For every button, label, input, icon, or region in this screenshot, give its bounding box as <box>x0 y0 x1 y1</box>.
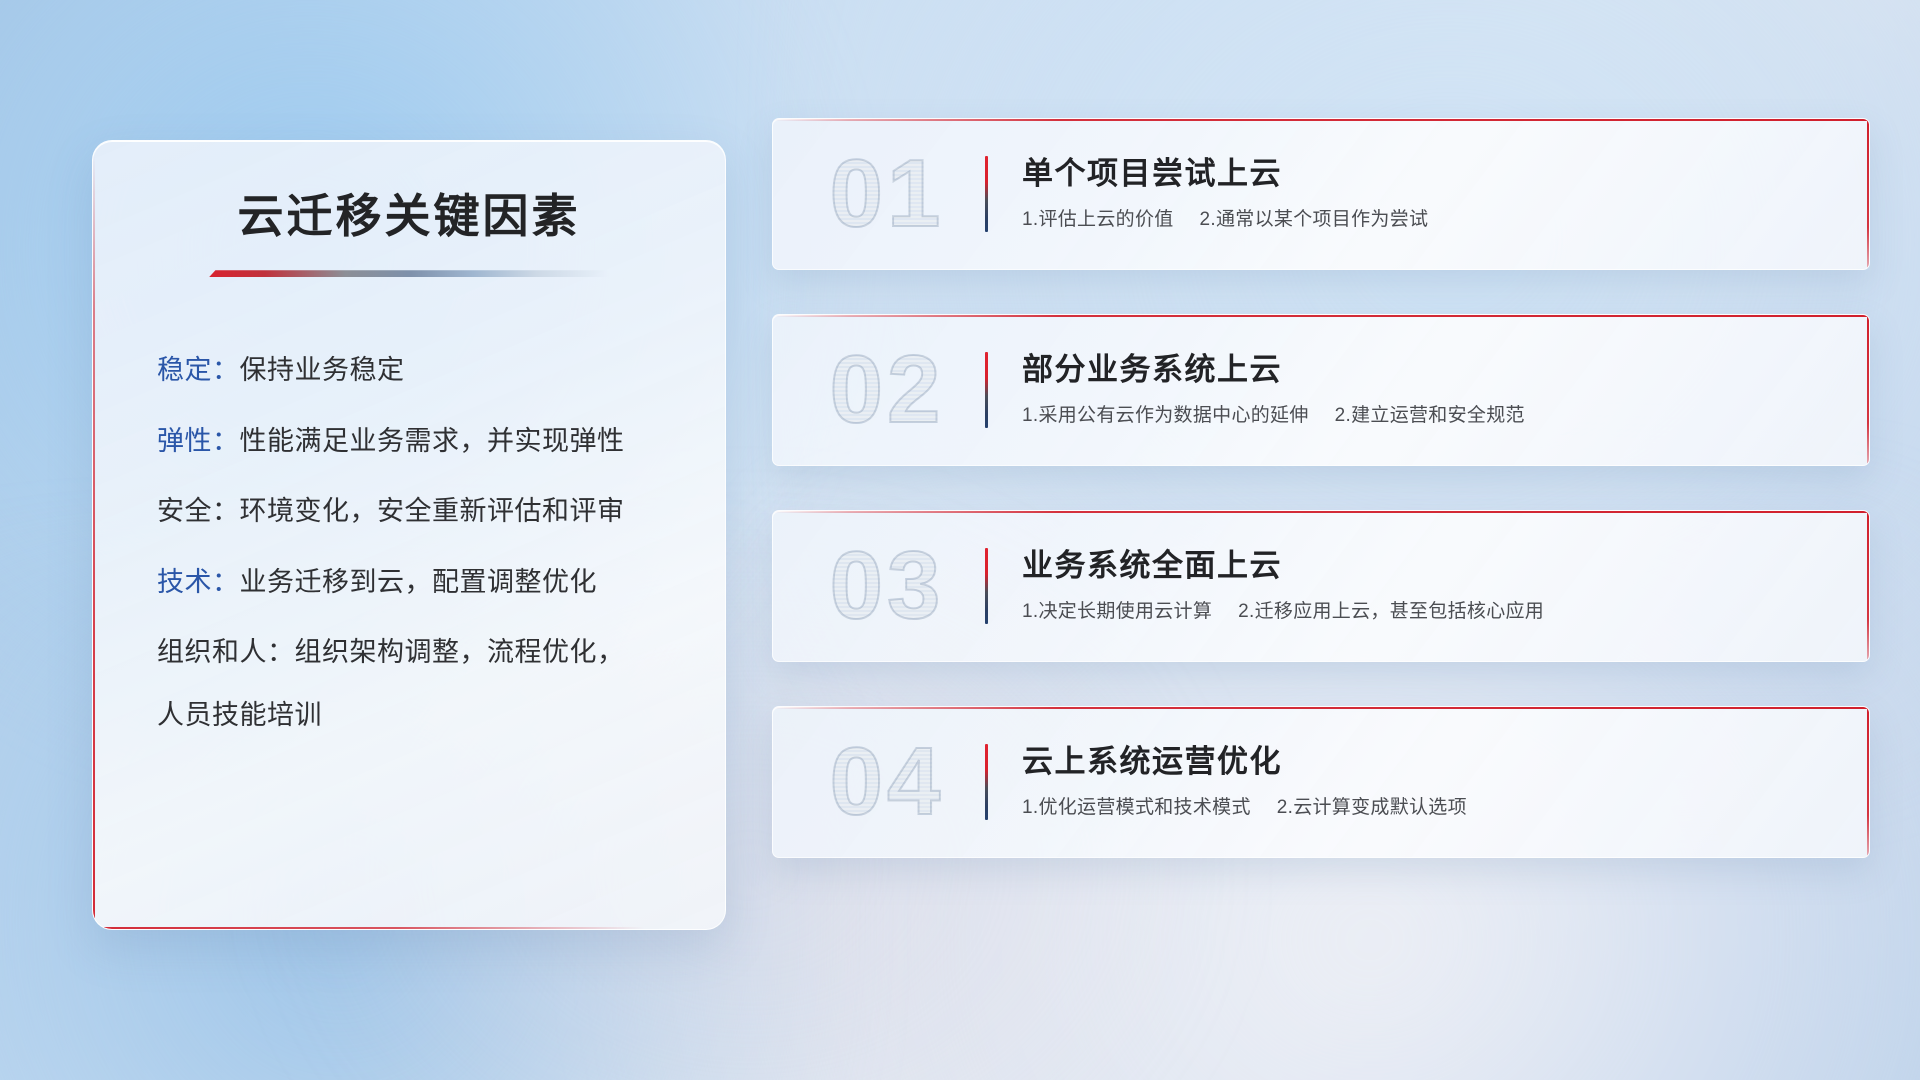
stage-title: 云上系统运营优化 <box>1022 743 1843 780</box>
factor-label: 稳定： <box>157 355 240 385</box>
factor-item-stability: 稳定：保持业务稳定 <box>157 353 669 388</box>
stage-card-01[interactable]: 01 01 单个项目尝试上云 1.评估上云的价值2.通常以某个项目作为尝试 <box>772 118 1870 270</box>
stage-card-02[interactable]: 02 02 部分业务系统上云 1.采用公有云作为数据中心的延伸2.建立运营和安全… <box>772 314 1870 466</box>
stage-card-body: 业务系统全面上云 1.决定长期使用云计算2.迁移应用上云，甚至包括核心应用 <box>1022 547 1869 625</box>
factor-label: 安全： <box>157 496 240 526</box>
stage-point-1: 1.决定长期使用云计算 <box>1022 601 1212 622</box>
factor-item-organization-people: 组织和人：组织架构调整，流程优化， 人员技能培训 <box>157 635 669 732</box>
stage-accent-bar <box>985 548 988 624</box>
page-title: 云迁移关键因素 <box>149 189 669 244</box>
stage-number-text: 04 <box>830 734 945 830</box>
stage-card-body: 单个项目尝试上云 1.评估上云的价值2.通常以某个项目作为尝试 <box>1022 155 1869 233</box>
stage-point-2: 2.迁移应用上云，甚至包括核心应用 <box>1238 601 1544 622</box>
migration-stage-cards: 01 01 单个项目尝试上云 1.评估上云的价值2.通常以某个项目作为尝试 02… <box>772 118 1870 858</box>
stage-card-body: 云上系统运营优化 1.优化运营模式和技术模式2.云计算变成默认选项 <box>1022 743 1869 821</box>
stage-title: 单个项目尝试上云 <box>1022 155 1843 192</box>
stage-point-2: 2.建立运营和安全规范 <box>1335 405 1525 426</box>
stage-card-03[interactable]: 03 03 业务系统全面上云 1.决定长期使用云计算2.迁移应用上云，甚至包括核… <box>772 510 1870 662</box>
stage-accent-bar <box>985 744 988 820</box>
stage-card-body: 部分业务系统上云 1.采用公有云作为数据中心的延伸2.建立运营和安全规范 <box>1022 351 1869 429</box>
stage-points: 1.优化运营模式和技术模式2.云计算变成默认选项 <box>1022 796 1843 821</box>
factor-text: 性能满足业务需求，并实现弹性 <box>240 426 625 456</box>
factor-label: 组织和人： <box>157 637 295 667</box>
stage-points: 1.决定长期使用云计算2.迁移应用上云，甚至包括核心应用 <box>1022 600 1843 625</box>
stage-card-04[interactable]: 04 04 云上系统运营优化 1.优化运营模式和技术模式2.云计算变成默认选项 <box>772 706 1870 858</box>
stage-number-text: 02 <box>830 342 945 438</box>
stage-number-02: 02 02 <box>789 342 985 438</box>
stage-point-1: 1.采用公有云作为数据中心的延伸 <box>1022 405 1309 426</box>
key-factors-panel: 云迁移关键因素 稳定：保持业务稳定 弹性：性能满足业务需求，并实现弹性 安全：环… <box>92 140 726 930</box>
slide-stage: 云迁移关键因素 稳定：保持业务稳定 弹性：性能满足业务需求，并实现弹性 安全：环… <box>0 0 1920 1080</box>
stage-number-04: 04 04 <box>789 734 985 830</box>
stage-accent-bar <box>985 352 988 428</box>
stage-point-2: 2.通常以某个项目作为尝试 <box>1200 209 1429 230</box>
factor-label: 弹性： <box>157 426 240 456</box>
stage-title: 业务系统全面上云 <box>1022 547 1843 584</box>
factor-label: 技术： <box>157 567 240 597</box>
factor-text: 业务迁移到云，配置调整优化 <box>240 567 598 597</box>
title-underline-rule <box>209 270 609 277</box>
stage-accent-bar <box>985 156 988 232</box>
stage-number-text: 03 <box>830 538 945 634</box>
stage-point-2: 2.云计算变成默认选项 <box>1277 797 1467 818</box>
stage-points: 1.采用公有云作为数据中心的延伸2.建立运营和安全规范 <box>1022 404 1843 429</box>
stage-title: 部分业务系统上云 <box>1022 351 1843 388</box>
factor-text: 环境变化，安全重新评估和评审 <box>240 496 625 526</box>
factor-item-elasticity: 弹性：性能满足业务需求，并实现弹性 <box>157 424 669 459</box>
factor-text: 保持业务稳定 <box>240 355 405 385</box>
factor-text: 组织架构调整，流程优化， <box>295 637 625 667</box>
stage-number-text: 01 <box>830 146 945 242</box>
key-factors-list: 稳定：保持业务稳定 弹性：性能满足业务需求，并实现弹性 安全：环境变化，安全重新… <box>149 353 669 732</box>
stage-number-01: 01 01 <box>789 146 985 242</box>
factor-text-continued: 人员技能培训 <box>157 698 669 733</box>
stage-number-03: 03 03 <box>789 538 985 634</box>
stage-points: 1.评估上云的价值2.通常以某个项目作为尝试 <box>1022 208 1843 233</box>
factor-item-security: 安全：环境变化，安全重新评估和评审 <box>157 494 669 529</box>
stage-point-1: 1.优化运营模式和技术模式 <box>1022 797 1251 818</box>
stage-point-1: 1.评估上云的价值 <box>1022 209 1174 230</box>
factor-item-technology: 技术：业务迁移到云，配置调整优化 <box>157 565 669 600</box>
